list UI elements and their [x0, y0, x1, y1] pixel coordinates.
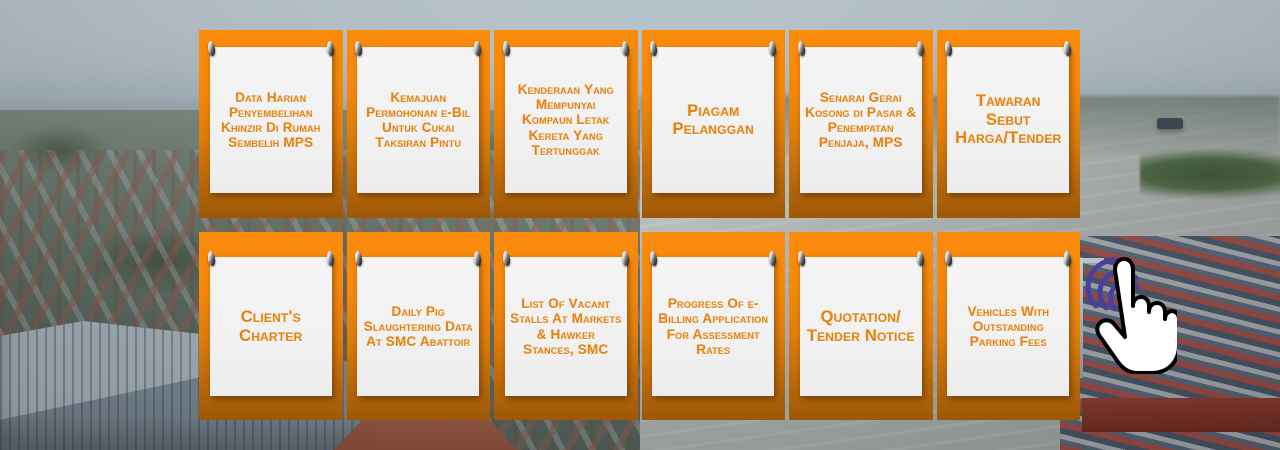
pin-icon [768, 41, 777, 57]
pin-icon [207, 251, 216, 267]
service-tile-card-11[interactable]: Quotation/ Tender Notice [789, 232, 933, 420]
tile-paper[interactable]: Vehicles With Outstanding Parking Fees [947, 257, 1069, 396]
tile-title: List Of Vacant Stalls At Markets & Hawke… [510, 296, 622, 356]
tile-title: Kenderaan Yang Mempunyai Kompaun Letak K… [510, 82, 622, 158]
tile-paper[interactable]: Kenderaan Yang Mempunyai Kompaun Letak K… [505, 47, 627, 193]
pin-icon [502, 251, 511, 267]
tile-title: Daily Pig Slaughtering Data At SMC Abatt… [362, 304, 474, 349]
service-tile-card-10[interactable]: Progress Of e-Billing Application For As… [642, 232, 786, 420]
service-tile-card-5[interactable]: Senarai Gerai Kosong di Pasar & Penempat… [789, 30, 933, 218]
service-tile-card-4[interactable]: Piagam Pelanggan [642, 30, 786, 218]
service-tile-card-6[interactable]: Tawaran Sebut Harga/Tender [937, 30, 1081, 218]
tile-paper[interactable]: Senarai Gerai Kosong di Pasar & Penempat… [800, 47, 922, 193]
pin-icon [768, 251, 777, 267]
tile-paper[interactable]: Tawaran Sebut Harga/Tender [947, 47, 1069, 193]
tile-paper[interactable]: Progress Of e-Billing Application For As… [652, 257, 774, 396]
tile-paper[interactable]: Daily Pig Slaughtering Data At SMC Abatt… [357, 257, 479, 396]
tile-title: Senarai Gerai Kosong di Pasar & Penempat… [805, 90, 917, 150]
tile-title: Piagam Pelanggan [657, 102, 769, 139]
service-tile-card-12[interactable]: Vehicles With Outstanding Parking Fees [937, 232, 1081, 420]
service-tile-card-2[interactable]: Kemajuan Permohonan e-Bil Untuk Cukai Ta… [347, 30, 491, 218]
pin-icon [473, 251, 482, 267]
tile-title: Kemajuan Permohonan e-Bil Untuk Cukai Ta… [362, 90, 474, 150]
pin-icon [1063, 41, 1072, 57]
pin-icon [502, 41, 511, 57]
service-tile-card-8[interactable]: Daily Pig Slaughtering Data At SMC Abatt… [347, 232, 491, 420]
tile-title: Client's Charter [215, 308, 327, 345]
service-tile-card-1[interactable]: Data Harian Penyembelihan Khinzir Di Rum… [199, 30, 343, 218]
tile-paper[interactable]: Data Harian Penyembelihan Khinzir Di Rum… [210, 47, 332, 193]
pin-icon [473, 41, 482, 57]
service-tile-card-3[interactable]: Kenderaan Yang Mempunyai Kompaun Letak K… [494, 30, 638, 218]
tile-paper[interactable]: Quotation/ Tender Notice [800, 257, 922, 396]
tile-paper[interactable]: Piagam Pelanggan [652, 47, 774, 193]
tile-paper[interactable]: Client's Charter [210, 257, 332, 396]
tile-paper[interactable]: Kemajuan Permohonan e-Bil Untuk Cukai Ta… [357, 47, 479, 193]
tile-title: Quotation/ Tender Notice [805, 308, 917, 345]
tile-title: Data Harian Penyembelihan Khinzir Di Rum… [215, 90, 327, 150]
tile-title: Vehicles With Outstanding Parking Fees [952, 304, 1064, 349]
screenshot-stage: Data Harian Penyembelihan Khinzir Di Rum… [0, 0, 1280, 450]
pin-icon [1063, 251, 1072, 267]
service-tile-grid: Data Harian Penyembelihan Khinzir Di Rum… [199, 30, 1080, 420]
service-tile-card-9[interactable]: List Of Vacant Stalls At Markets & Hawke… [494, 232, 638, 420]
tile-paper[interactable]: List Of Vacant Stalls At Markets & Hawke… [505, 257, 627, 396]
pin-icon [797, 251, 806, 267]
service-tile-card-7[interactable]: Client's Charter [199, 232, 343, 420]
tile-title: Progress Of e-Billing Application For As… [657, 296, 769, 356]
tile-title: Tawaran Sebut Harga/Tender [952, 92, 1064, 147]
pin-icon [797, 41, 806, 57]
pin-icon [207, 41, 216, 57]
